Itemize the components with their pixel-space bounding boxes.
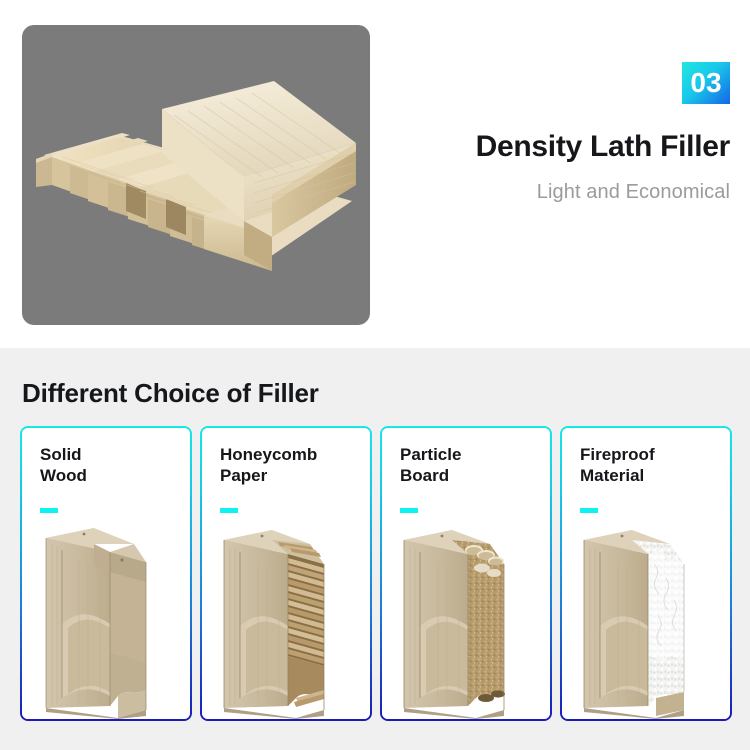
card-inner: Particle Board: [382, 428, 550, 719]
particle-board-door-section-illustration: [382, 520, 550, 719]
filler-card-fireproof-material[interactable]: Fireproof Material: [560, 426, 732, 721]
card-title-line1: Honeycomb: [220, 445, 317, 464]
honeycomb-paper-door-section-illustration: [202, 520, 370, 719]
card-title-line2: Wood: [40, 466, 87, 485]
card-title-line1: Fireproof: [580, 445, 655, 464]
card-title-line1: Particle: [400, 445, 461, 464]
section-heading: Different Choice of Filler: [22, 378, 319, 409]
accent-dash: [40, 508, 58, 513]
card-title: Fireproof Material: [580, 444, 720, 487]
card-title-line2: Paper: [220, 466, 267, 485]
card-title: Honeycomb Paper: [220, 444, 360, 487]
hero-section: 03 Density Lath Filler Light and Economi…: [0, 0, 750, 348]
fireproof-material-door-section-illustration: [562, 520, 730, 719]
card-title: Solid Wood: [40, 444, 180, 487]
filler-choices-section: Different Choice of Filler Solid Wood: [0, 348, 750, 750]
filler-card-solid-wood[interactable]: Solid Wood: [20, 426, 192, 721]
accent-dash: [220, 508, 238, 513]
page-subtitle: Light and Economical: [370, 181, 730, 204]
card-inner: Fireproof Material: [562, 428, 730, 719]
accent-dash: [400, 508, 418, 513]
card-title: Particle Board: [400, 444, 540, 487]
card-inner: Honeycomb Paper: [202, 428, 370, 719]
card-inner: Solid Wood: [22, 428, 190, 719]
accent-dash: [580, 508, 598, 513]
lath-core-panel-illustration: [22, 25, 370, 325]
card-title-line1: Solid: [40, 445, 82, 464]
hero-product-photo: [22, 25, 370, 325]
card-title-line2: Material: [580, 466, 644, 485]
card-title-line2: Board: [400, 466, 449, 485]
page-title: Density Lath Filler: [370, 130, 730, 163]
hero-caption: 03 Density Lath Filler Light and Economi…: [370, 62, 730, 204]
filler-card-honeycomb-paper[interactable]: Honeycomb Paper: [200, 426, 372, 721]
solid-wood-door-section-illustration: [22, 520, 190, 719]
step-badge: 03: [682, 62, 730, 104]
filler-card-particle-board[interactable]: Particle Board: [380, 426, 552, 721]
filler-card-row: Solid Wood: [20, 426, 732, 721]
